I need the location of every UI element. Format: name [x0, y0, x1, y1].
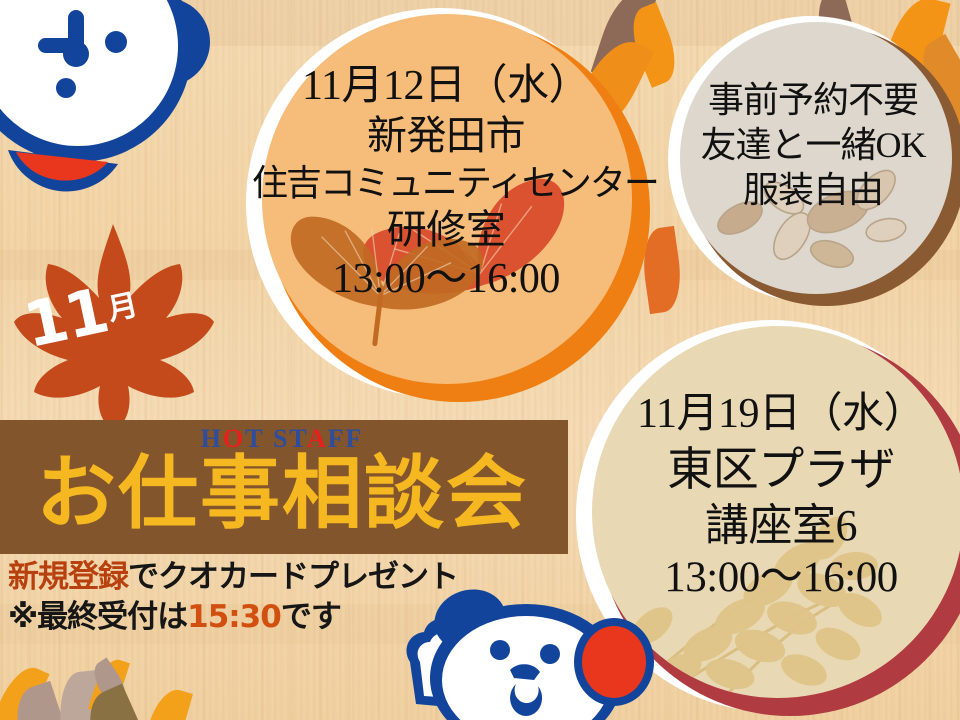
- note-highlight: 新規登録: [8, 559, 128, 595]
- poster-canvas: 11月12日（水） 新発田市 住吉コミュニティセンター 研修室 13:00〜16…: [0, 0, 960, 720]
- event-1-venue: 住吉コミュニティセンター: [252, 163, 640, 205]
- notice-line-3: 服装自由: [668, 170, 958, 212]
- event-1-details: 11月12日（水） 新発田市 住吉コミュニティセンター 研修室 13:00〜16…: [252, 62, 640, 304]
- event-1-date: 11月12日（水）: [252, 62, 640, 111]
- notice-details: 事前予約不要 友達と一緒OK 服装自由: [668, 80, 958, 214]
- mascot-character-top: [0, 0, 222, 228]
- event-2-details: 11月19日（水） 東区プラザ 講座室6 13:00〜16:00: [590, 390, 960, 603]
- note-rest: でクオカードプレゼント: [128, 559, 458, 595]
- event-2-venue: 東区プラザ: [590, 443, 960, 496]
- event-1-city: 新発田市: [252, 113, 640, 159]
- notice-line-2: 友達と一緒OK: [668, 125, 958, 167]
- event-2-room: 講座室6: [590, 500, 960, 551]
- note-suffix: です: [281, 599, 341, 635]
- notice-line-1: 事前予約不要: [668, 80, 958, 122]
- bear-mascot-icon: [0, 0, 222, 228]
- bear-mascot-icon: [398, 592, 648, 720]
- event-2-date: 11月19日（水）: [590, 390, 960, 439]
- event-1-room: 研修室: [252, 207, 640, 253]
- note-time-highlight: 15:30: [187, 599, 281, 635]
- mascot-character-bottom: [398, 592, 648, 720]
- page-title: お仕事相談会: [0, 454, 568, 534]
- event-1-time: 13:00〜16:00: [252, 255, 640, 304]
- title-banner: HOT STAFF お仕事相談会: [0, 420, 568, 554]
- note-prefix: ※最終受付は: [8, 599, 187, 635]
